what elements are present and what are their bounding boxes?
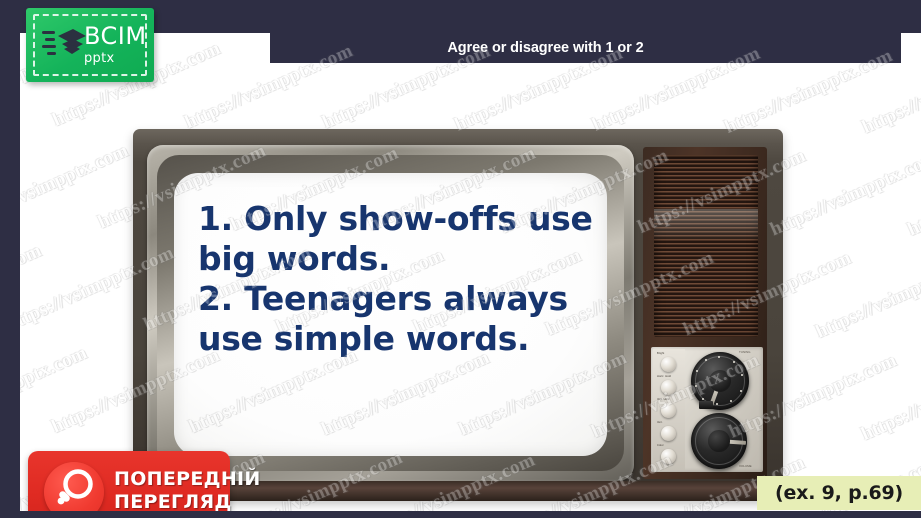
dial-hub [709,370,731,392]
dial-hub [708,430,729,451]
tv-knob-strip: Bright Horiz. Hold Vert. Hold Vert. Colo… [653,349,685,470]
exercise-reference-label: (ex. 9, p.69) [775,482,903,504]
panel-label-volume: VOLUME [739,464,752,468]
tv-knob-4[interactable] [661,449,676,464]
knob-label-0: Bright [657,352,664,355]
knob-label-4: Color [657,444,664,447]
screen-line-2: big words. [198,239,599,279]
tv-knob-2[interactable] [661,403,676,418]
graduation-cap-icon [42,27,86,65]
tv-screen-text: 1. Only show-offs use big words. 2. Teen… [198,199,599,359]
preview-line-2: ПЕРЕГЛЯД [114,491,261,511]
tv-volume-dial[interactable] [691,413,747,469]
tv-screen: 1. Only show-offs use big words. 2. Teen… [174,173,607,456]
logo-wordmark: BCIM pptx [84,24,152,65]
screen-line-1: 1. Only show-offs use [198,199,599,239]
slide-frame: Bright Horiz. Hold Vert. Hold Vert. Colo… [0,0,921,518]
bcim-logo[interactable]: BCIM pptx [26,8,154,82]
panel-label-tuning: TUNING [739,350,751,354]
tv-speaker-grille [654,155,758,337]
logo-name: BCIM [84,24,152,48]
screen-line-4: use simple words. [198,319,599,359]
knob-label-1: Horiz. Hold [657,375,671,378]
page-title: Agree or disagree with 1 or 2 [447,40,643,56]
screen-line-3: 2. Teenagers always [198,279,599,319]
knob-label-2: Vert. Hold [657,398,669,401]
knob-label-3: Vert. [657,421,663,424]
magnifier-icon [44,462,104,511]
tv-knob-1[interactable] [661,380,676,395]
preview-badge-text: ПОПЕРЕДНІЙ ПЕРЕГЛЯД [114,468,261,511]
tv-panel-divider [699,401,713,409]
logo-subtitle: pptx [84,52,152,65]
tv-knob-3[interactable] [661,426,676,441]
slide-canvas: Bright Horiz. Hold Vert. Hold Vert. Colo… [20,33,921,511]
exercise-reference-tag: (ex. 9, p.69) [757,476,921,510]
preview-line-1: ПОПЕРЕДНІЙ [114,468,261,491]
tv-knob-0[interactable] [661,357,676,372]
slide-title-bar: Agree or disagree with 1 or 2 [270,33,901,63]
retro-tv-illustration: Bright Horiz. Hold Vert. Hold Vert. Colo… [133,129,803,511]
preview-badge[interactable]: ПОПЕРЕДНІЙ ПЕРЕГЛЯД [28,451,230,511]
